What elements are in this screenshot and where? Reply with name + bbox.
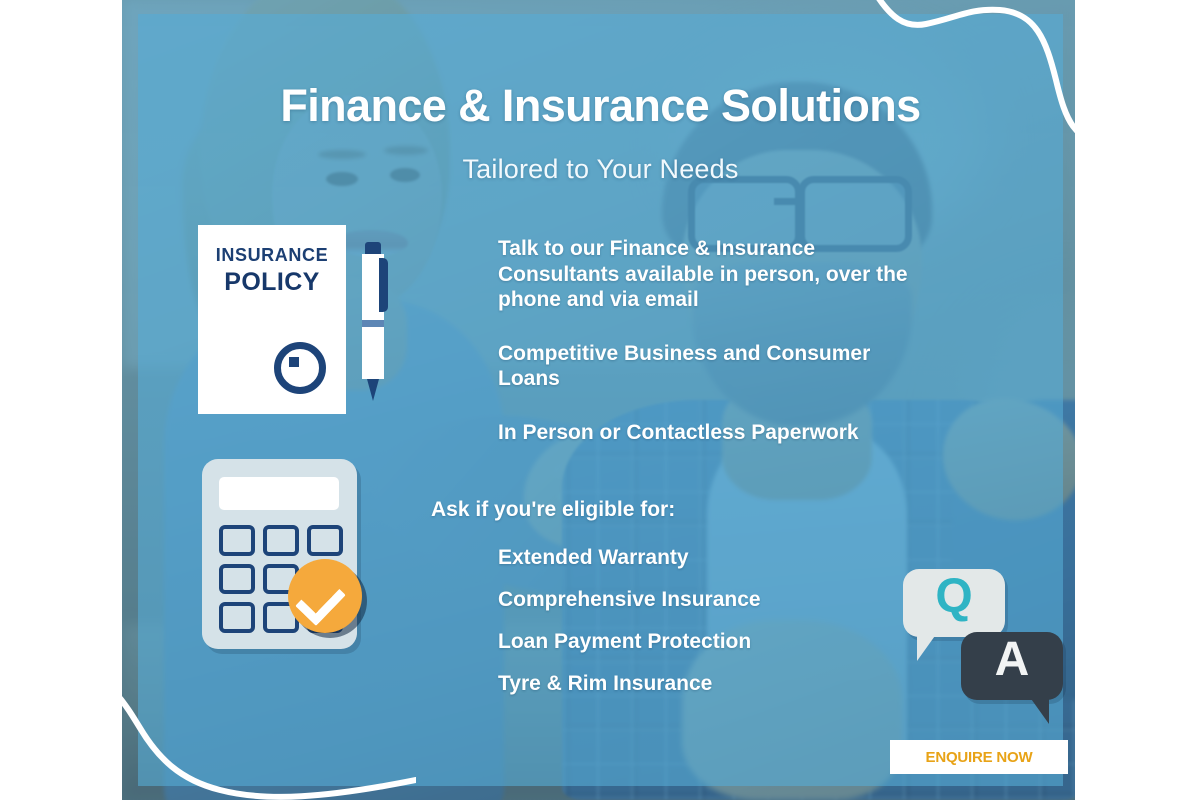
document-title-line2: POLICY [198,268,346,297]
question-bubble-icon: Q [903,569,1005,637]
calculator-icon [202,459,357,649]
calculator-key [307,525,343,556]
body-paragraph: Competitive Business and Consumer Loans [498,341,918,392]
checkmark-icon [288,559,362,633]
answer-letter: A [961,636,1063,684]
poster-content: Finance & Insurance Solutions Tailored t… [138,14,1063,786]
calculator-key [263,525,299,556]
page-title: Finance & Insurance Solutions [138,80,1063,132]
calculator-key [219,602,255,633]
document-seal-icon [274,342,326,394]
document-text-line-5 [220,388,272,397]
page-subtitle: Tailored to Your Needs [138,154,1063,185]
document-text-line-1 [220,309,324,318]
enquire-now-button[interactable]: ENQUIRE NOW [890,740,1068,774]
benefits-list: Extended Warranty Comprehensive Insuranc… [498,546,958,714]
pen-grip [362,320,384,327]
list-item: Comprehensive Insurance [498,588,958,612]
list-item: Tyre & Rim Insurance [498,672,958,696]
pen-tip [367,379,379,401]
enquire-now-label: ENQUIRE NOW [926,749,1033,766]
calculator-display [219,477,339,510]
calculator-key [219,525,255,556]
poster-canvas: Finance & Insurance Solutions Tailored t… [0,0,1200,800]
eligibility-label: Ask if you're eligible for: [431,498,891,522]
calculator-key [219,564,255,595]
list-item: Loan Payment Protection [498,630,958,654]
pen-clip [379,258,388,312]
body-paragraph: In Person or Contactless Paperwork [498,420,918,446]
qa-badge-icon: Q A [903,569,1078,729]
question-letter: Q [903,573,1005,621]
body-paragraph: Talk to our Finance & Insurance Consulta… [498,236,918,313]
insurance-policy-icon: INSURANCE POLICY [198,225,346,414]
document-text-line-2 [220,326,324,335]
answer-bubble-icon: A [961,632,1063,700]
body-copy: Talk to our Finance & Insurance Consulta… [498,236,918,474]
pen-icon [360,242,386,407]
list-item: Extended Warranty [498,546,958,570]
document-title-line1: INSURANCE [198,245,346,266]
document-text-line-4 [220,371,272,380]
